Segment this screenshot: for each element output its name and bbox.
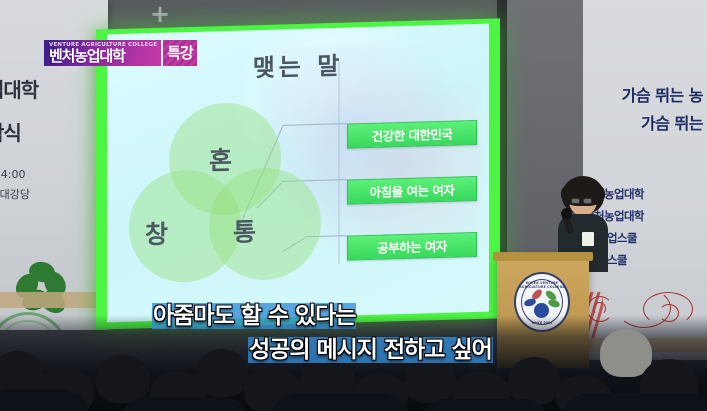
- broadcast-logo-korean: 벤처농업대학: [49, 49, 157, 64]
- left-ledge: [0, 292, 108, 308]
- audience-shoulder: [120, 397, 250, 411]
- banner-right-headline2: 가슴 뛰는: [567, 110, 703, 134]
- venn-diagram: 혼 창 통: [129, 100, 319, 285]
- plus-icon: +: [150, 2, 170, 26]
- slide-box-2: 아침을 여는 여자: [347, 176, 477, 205]
- slide-box-3: 공부하는 여자: [347, 232, 477, 261]
- banner-left-line4: 학 대강당: [0, 186, 106, 202]
- subtitle-line-2: 성공의 메시지 전하고 싶어: [248, 330, 493, 364]
- banner-right-headline2-text: 가슴 뛰는: [641, 114, 703, 133]
- microphone-head-icon: [561, 208, 572, 219]
- venn-circle-3: [209, 166, 321, 281]
- audience-head: [196, 349, 248, 397]
- broadcast-logo-tag-text: 특강: [167, 46, 193, 61]
- audience-shoulder: [270, 393, 410, 411]
- broadcast-logo-main: VENTURE AGRICULTURE COLLEGE 벤처농업대학: [44, 40, 161, 66]
- venn-label-2: 창: [145, 215, 168, 252]
- subtitle-line-1-text: 아줌마도 할 수 있다는: [152, 303, 356, 329]
- podium-top: [493, 252, 593, 261]
- subtitle-line-1: 아줌마도 할 수 있다는: [152, 296, 356, 330]
- subtitle-line-2-text: 성공의 메시지 전하고 싶어: [248, 337, 493, 363]
- banner-left-line3: ) 14:00: [0, 168, 106, 181]
- banner-left-line2: 학식: [0, 117, 106, 146]
- audience-head: [508, 357, 560, 405]
- audience-shoulder: [560, 393, 707, 411]
- banner-right-headline1: 가슴 뛰는 농: [567, 82, 703, 106]
- banner-left-text: 업대학 학식 ) 14:00 학 대강당: [0, 74, 106, 202]
- slide-box-1: 건강한 대한민국: [347, 120, 477, 149]
- venn-label-1: 혼: [209, 141, 232, 178]
- venn-label-3: 통: [233, 212, 256, 249]
- audience-shoulder: [420, 399, 550, 411]
- audience-head: [96, 355, 150, 403]
- emblem-text-top: KOREA VENTURE AGRICULTURE COLLEGE: [519, 281, 565, 289]
- banner-right-headline1-text: 가슴 뛰는 농: [622, 86, 703, 105]
- speaker-name-badge: [582, 232, 594, 246]
- glasses-icon: [571, 198, 593, 204]
- banner-left-line1: 업대학: [0, 74, 106, 103]
- projection-screen: 맺는 말 혼 창 통 건강한 대한민국 아침을 여는 여자 공부하는 여자: [107, 24, 489, 323]
- broadcast-frame: 업대학 학식 ) 14:00 학 대강당 가슴 뛰는 농 가슴 뛰는 ① 벤처농…: [0, 0, 707, 411]
- broadcast-logo-tag: 특강: [163, 40, 197, 66]
- broadcast-logo-bug: VENTURE AGRICULTURE COLLEGE 벤처농업대학 특강: [44, 40, 197, 66]
